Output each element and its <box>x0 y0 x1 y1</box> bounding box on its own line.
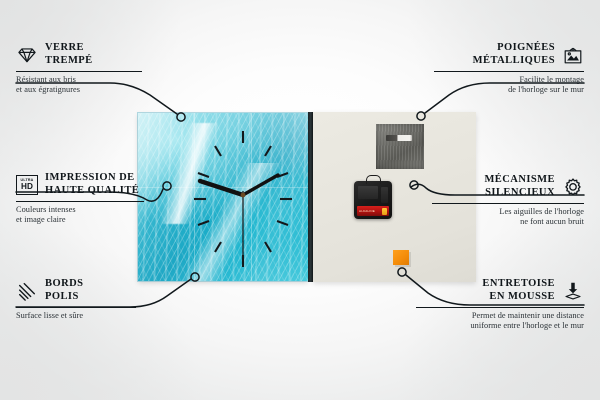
callout-impression-haute-qualite[interactable]: ultra HD IMPRESSION DE HAUTE QUALITÉ Cou… <box>16 172 144 226</box>
ultra-hd-icon: ultra HD <box>16 175 38 195</box>
callout-header: MÉCANISME SILENCIEUX <box>432 174 584 200</box>
battery-terminal <box>382 208 387 215</box>
foam-spacer-icon <box>562 280 584 302</box>
mechanism-body-detail <box>358 186 378 199</box>
callout-divider <box>16 307 136 308</box>
clock-mechanism: ALKALINE <box>354 181 392 219</box>
mechanism-hanging-loop <box>366 175 381 184</box>
down-arrow <box>569 283 577 294</box>
ultra-hd-icon-main-text: HD <box>21 183 33 191</box>
foam-spacer <box>393 250 409 265</box>
infographic-canvas: ALKALINE <box>0 0 600 400</box>
callout-title: IMPRESSION DE HAUTE QUALITÉ <box>45 172 139 198</box>
mechanism-side-detail <box>381 187 388 203</box>
callout-title: POIGNÉES MÉTALLIQUES <box>473 42 555 68</box>
callout-title: ENTRETOISE EN MOUSSE <box>482 278 555 304</box>
clock-hands <box>200 175 278 259</box>
diamond-icon <box>16 44 38 66</box>
metal-hanger-plate <box>376 124 424 169</box>
callout-header: POIGNÉES MÉTALLIQUES <box>434 42 584 68</box>
callout-subtitle: Facilite le montage de l'horloge sur le … <box>434 75 584 97</box>
callout-header: BORDS POLIS <box>16 278 136 304</box>
product-image: ALKALINE <box>138 112 476 282</box>
callout-subtitle: Résistant aux bris et aux égratignures <box>16 75 142 97</box>
callout-header: ENTRETOISE EN MOUSSE <box>416 278 584 304</box>
callout-divider <box>16 201 144 202</box>
minute-hand <box>243 175 278 195</box>
callout-divider <box>416 307 584 308</box>
gear-icon <box>562 176 584 198</box>
callout-title: MÉCANISME SILENCIEUX <box>484 174 555 200</box>
clock-center-cap <box>241 193 246 198</box>
polished-edges-icon <box>16 280 38 302</box>
callout-subtitle: Permet de maintenir une distance uniform… <box>416 311 584 333</box>
callout-title: BORDS POLIS <box>45 278 83 304</box>
callout-title: VERRE TREMPÉ <box>45 42 93 68</box>
callout-entretoise-en-mousse[interactable]: ENTRETOISE EN MOUSSE Permet de maintenir… <box>416 278 584 332</box>
callout-divider <box>432 203 584 204</box>
callout-bords-polis[interactable]: BORDS POLIS Surface lisse et sûre <box>16 278 136 321</box>
callout-header: ultra HD IMPRESSION DE HAUTE QUALITÉ <box>16 172 144 198</box>
picture-hanger-icon <box>562 44 584 66</box>
callout-verre-trempe[interactable]: VERRE TREMPÉ Résistant aux bris et aux é… <box>16 42 142 96</box>
battery-label: ALKALINE <box>359 209 375 213</box>
callout-divider <box>16 71 142 72</box>
hanger-slot <box>386 135 412 141</box>
callout-mecanisme-silencieux[interactable]: MÉCANISME SILENCIEUX Les aiguilles de l'… <box>432 174 584 228</box>
callout-subtitle: Couleurs intenses et image claire <box>16 205 144 227</box>
callout-poignees-metalliques[interactable]: POIGNÉES MÉTALLIQUES Facilite le montage… <box>434 42 584 96</box>
battery: ALKALINE <box>357 206 389 216</box>
callout-subtitle: Les aiguilles de l'horloge ne font aucun… <box>432 207 584 229</box>
clock-dial <box>138 113 308 281</box>
hour-hand <box>200 181 243 195</box>
callout-divider <box>434 71 584 72</box>
callout-header: VERRE TREMPÉ <box>16 42 142 68</box>
clock-glass-panel <box>138 113 308 281</box>
callout-subtitle: Surface lisse et sûre <box>16 311 136 322</box>
